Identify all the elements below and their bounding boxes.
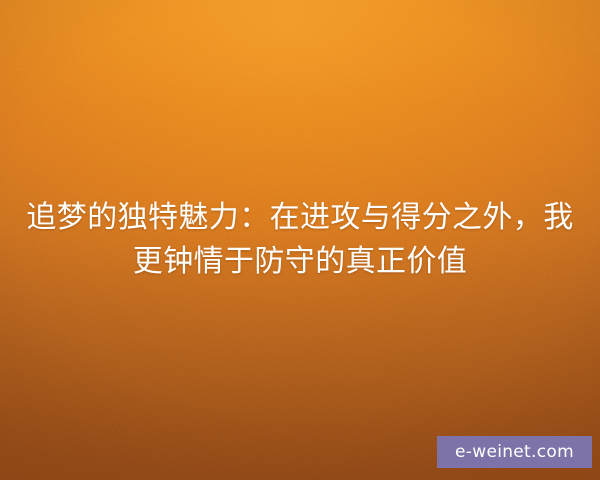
title-card: 追梦的独特魅力：在进攻与得分之外，我更钟情于防守的真正价值 e-weinet.c… bbox=[0, 0, 600, 480]
watermark-label: e-weinet.com bbox=[455, 444, 574, 461]
watermark-badge: e-weinet.com bbox=[437, 436, 592, 468]
headline-text: 追梦的独特魅力：在进攻与得分之外，我更钟情于防守的真正价值 bbox=[0, 196, 600, 284]
